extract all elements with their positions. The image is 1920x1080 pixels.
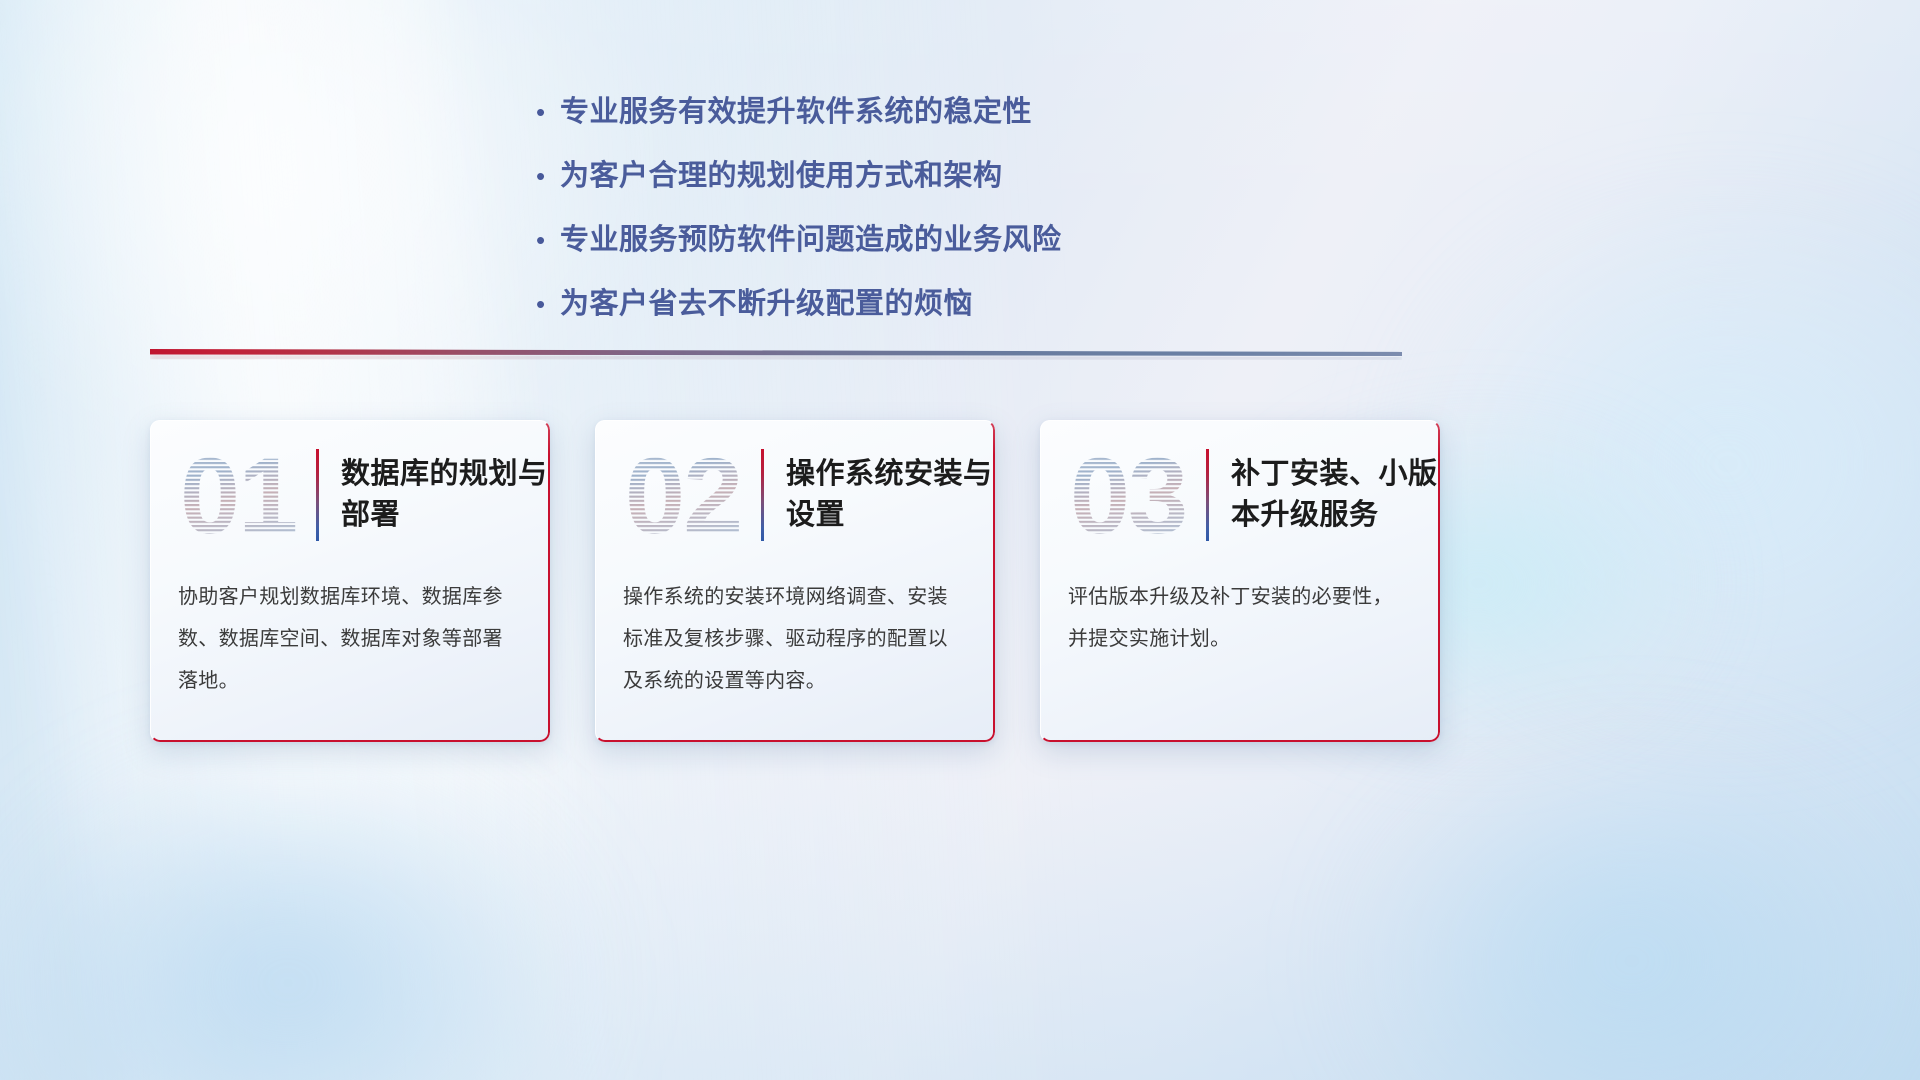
card-header: 03 补丁安装、小版本升级服务: [1040, 420, 1440, 570]
divider-rule: [150, 349, 1402, 356]
bullet-text: 为客户省去不断升级配置的烦恼: [560, 284, 973, 324]
card-accent-bar: [316, 449, 319, 541]
card-title: 数据库的规划与部署: [341, 454, 550, 536]
list-item: • 专业服务有效提升软件系统的稳定性: [536, 92, 1236, 132]
service-card[interactable]: 03 补丁安装、小版本升级服务 评估版本升级及补丁安装的必要性，并提交实施计划。: [1040, 420, 1440, 742]
card-description: 操作系统的安装环境网络调查、安装标准及复核步骤、驱动程序的配置以及系统的设置等内…: [595, 570, 995, 702]
card-number-watermark: 03: [1068, 441, 1196, 549]
card-number-watermark: 01: [178, 441, 306, 549]
bullet-text: 为客户合理的规划使用方式和架构: [560, 156, 1003, 196]
card-description: 评估版本升级及补丁安装的必要性，并提交实施计划。: [1040, 570, 1440, 660]
card-title: 操作系统安装与设置: [786, 454, 995, 536]
bullet-text: 专业服务预防软件问题造成的业务风险: [560, 220, 1062, 260]
service-card-group: 01 数据库的规划与部署 协助客户规划数据库环境、数据库参数、数据库空间、数据库…: [150, 420, 1440, 742]
bullet-dot-icon: •: [536, 156, 560, 196]
list-item: • 为客户合理的规划使用方式和架构: [536, 156, 1236, 196]
list-item: • 为客户省去不断升级配置的烦恼: [536, 284, 1236, 324]
bullet-dot-icon: •: [536, 220, 560, 260]
card-header: 02 操作系统安装与设置: [595, 420, 995, 570]
slide-canvas: • 专业服务有效提升软件系统的稳定性 • 为客户合理的规划使用方式和架构 • 专…: [0, 0, 1920, 1080]
card-description: 协助客户规划数据库环境、数据库参数、数据库空间、数据库对象等部署落地。: [150, 570, 550, 702]
service-card[interactable]: 02 操作系统安装与设置 操作系统的安装环境网络调查、安装标准及复核步骤、驱动程…: [595, 420, 995, 742]
card-accent-bar: [1206, 449, 1209, 541]
benefits-bullet-list: • 专业服务有效提升软件系统的稳定性 • 为客户合理的规划使用方式和架构 • 专…: [536, 92, 1236, 348]
card-number-watermark: 02: [623, 441, 751, 549]
bullet-text: 专业服务有效提升软件系统的稳定性: [560, 92, 1032, 132]
service-card[interactable]: 01 数据库的规划与部署 协助客户规划数据库环境、数据库参数、数据库空间、数据库…: [150, 420, 550, 742]
card-title: 补丁安装、小版本升级服务: [1231, 454, 1440, 536]
card-header: 01 数据库的规划与部署: [150, 420, 550, 570]
section-divider: [150, 346, 1402, 362]
svg-text:01: 01: [180, 441, 296, 549]
bullet-dot-icon: •: [536, 92, 560, 132]
card-accent-bar: [761, 449, 764, 541]
svg-text:02: 02: [625, 441, 741, 549]
list-item: • 专业服务预防软件问题造成的业务风险: [536, 220, 1236, 260]
svg-text:03: 03: [1070, 441, 1186, 549]
bullet-dot-icon: •: [536, 284, 560, 324]
